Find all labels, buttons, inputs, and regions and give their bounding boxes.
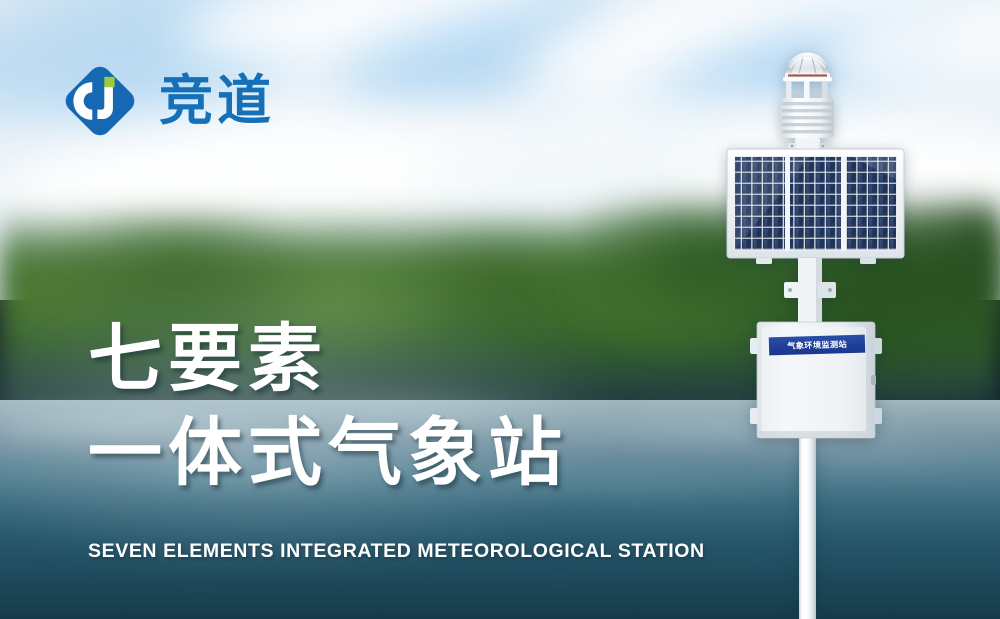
headline-line-2: 一体式气象站	[88, 416, 568, 490]
ultrasonic-sensor-dome	[783, 53, 832, 82]
weather-station-device: 气象环境监测站	[700, 30, 960, 619]
headline-subtitle: SEVEN ELEMENTS INTEGRATED METEOROLOGICAL…	[88, 540, 705, 563]
headline-line-1: 七要素	[88, 322, 568, 396]
product-banner: 竞道 七要素 一体式气象站 SEVEN ELEMENTS INTEGRATED …	[0, 0, 1000, 619]
brand-name: 竞道	[159, 74, 275, 128]
headline-block: 七要素 一体式气象站	[88, 322, 568, 490]
company-diamond-logo-icon	[57, 58, 143, 144]
sensor-pillars	[786, 81, 828, 99]
solar-panel	[727, 149, 904, 264]
mounting-bracket	[784, 258, 836, 326]
brand-logo-lockup: 竞道	[57, 58, 275, 144]
control-box-nameplate-text: 气象环境监测站	[787, 338, 847, 351]
louvered-radiation-shield	[781, 98, 834, 138]
weather-station-illustration	[700, 30, 960, 619]
control-box-nameplate: 气象环境监测站	[769, 335, 865, 356]
